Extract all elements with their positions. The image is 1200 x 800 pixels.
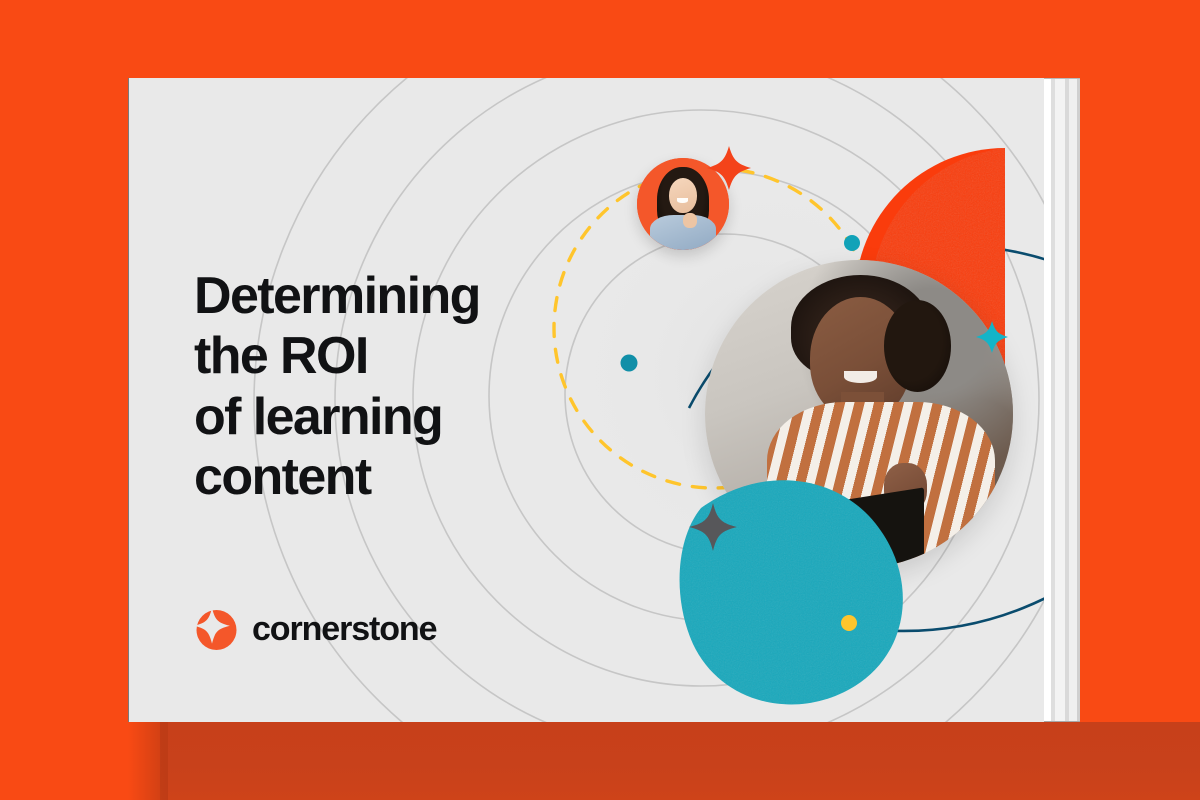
page-title: Determining the ROI of learning content bbox=[194, 266, 614, 507]
sparkle-star-icon bbox=[192, 606, 238, 652]
teal-dot-top-right bbox=[844, 235, 860, 251]
ebook-cover: Determining the ROI of learning content … bbox=[128, 78, 1044, 722]
headline-line-3: of learning bbox=[194, 387, 614, 447]
orange-sparkle-star bbox=[707, 146, 751, 190]
gray-sparkle-star bbox=[689, 503, 737, 551]
cornerstone-logo[interactable]: cornerstone bbox=[192, 606, 436, 652]
teal-dot-left bbox=[621, 355, 638, 372]
teal-sparkle-star bbox=[976, 321, 1008, 353]
logo-wordmark: cornerstone bbox=[252, 610, 436, 649]
page-edge-2 bbox=[1051, 78, 1055, 722]
page-edge-3 bbox=[1055, 78, 1065, 722]
yellow-dot-bottom bbox=[841, 615, 857, 631]
headline-line-2: the ROI bbox=[194, 326, 614, 386]
headline-line-4: content bbox=[194, 447, 614, 507]
book-drop-shadow bbox=[160, 722, 1200, 800]
book-drop-shadow-fade bbox=[128, 722, 168, 800]
page-edge-6 bbox=[1077, 78, 1080, 722]
headline-line-1: Determining bbox=[194, 266, 614, 326]
poster-canvas: Determining the ROI of learning content … bbox=[0, 0, 1200, 800]
page-edge-4 bbox=[1065, 78, 1069, 722]
page-edge-5 bbox=[1069, 78, 1077, 722]
